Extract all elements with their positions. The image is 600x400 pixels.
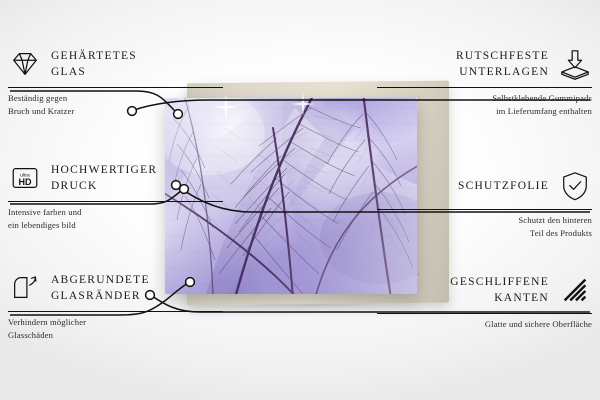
feature-rutschfeste-unterlagen: RUTSCHFESTE UNTERLAGEN Selbstklebende Gu…	[377, 44, 592, 118]
feature-description: Selbstklebende Gummipads im Lieferumfang…	[377, 92, 592, 118]
infographic-stage: GEHÄRTETES GLAS Beständig gegen Bruch un…	[0, 0, 600, 400]
feature-schutzfolie: SCHUTZFOLIE Schutzt den hinteren Teil de…	[377, 166, 592, 240]
feature-header: SCHUTZFOLIE	[377, 166, 592, 206]
feature-description: Intensive farben und ein lebendiges bild	[8, 206, 223, 232]
feature-header: GEHÄRTETES GLAS	[8, 44, 223, 84]
diamond-icon	[8, 47, 42, 81]
feature-description: Verhindern möglicher Glasschäden	[8, 316, 223, 342]
feature-abgerundete-glasraender: ABGERUNDETE GLASRÄNDER Verhindern möglic…	[8, 268, 223, 342]
feature-header: GESCHLIFFENE KANTEN	[377, 270, 592, 310]
feature-header: ABGERUNDETE GLASRÄNDER	[8, 268, 223, 308]
feature-divider	[377, 209, 592, 210]
feature-title: HOCHWERTIGER DRUCK	[51, 162, 157, 195]
shield-check-icon	[558, 169, 592, 203]
feature-divider	[8, 311, 223, 312]
feature-divider	[377, 313, 592, 314]
feature-gehaertetes-glas: GEHÄRTETES GLAS Beständig gegen Bruch un…	[8, 44, 223, 118]
rounded-corner-icon	[8, 271, 42, 305]
feature-title: GEHÄRTETES GLAS	[51, 48, 137, 81]
feature-hochwertiger-druck: ultra HD HOCHWERTIGER DRUCK Intensive fa…	[8, 158, 223, 232]
feature-title: RUTSCHFESTE UNTERLAGEN	[456, 48, 549, 81]
feature-divider	[8, 201, 223, 202]
feature-geschliffene-kanten: GESCHLIFFENE KANTEN Glatte und sichere O…	[377, 270, 592, 331]
feature-description: Glatte und sichere Oberfläche	[377, 318, 592, 331]
ultra-hd-large-label: HD	[18, 177, 32, 187]
feature-description: Beständig gegen Bruch und Kratzer	[8, 92, 223, 118]
hatched-edge-icon	[558, 273, 592, 307]
ultra-hd-icon: ultra HD	[8, 161, 42, 195]
feature-title: ABGERUNDETE GLASRÄNDER	[51, 272, 150, 305]
arrow-down-pad-icon	[558, 47, 592, 81]
feature-divider	[377, 87, 592, 88]
feature-divider	[8, 87, 223, 88]
feature-title: SCHUTZFOLIE	[458, 178, 549, 194]
feature-description: Schutzt den hinteren Teil des Produkts	[377, 214, 592, 240]
feature-title: GESCHLIFFENE KANTEN	[450, 274, 549, 307]
feature-header: ultra HD HOCHWERTIGER DRUCK	[8, 158, 223, 198]
feature-header: RUTSCHFESTE UNTERLAGEN	[377, 44, 592, 84]
